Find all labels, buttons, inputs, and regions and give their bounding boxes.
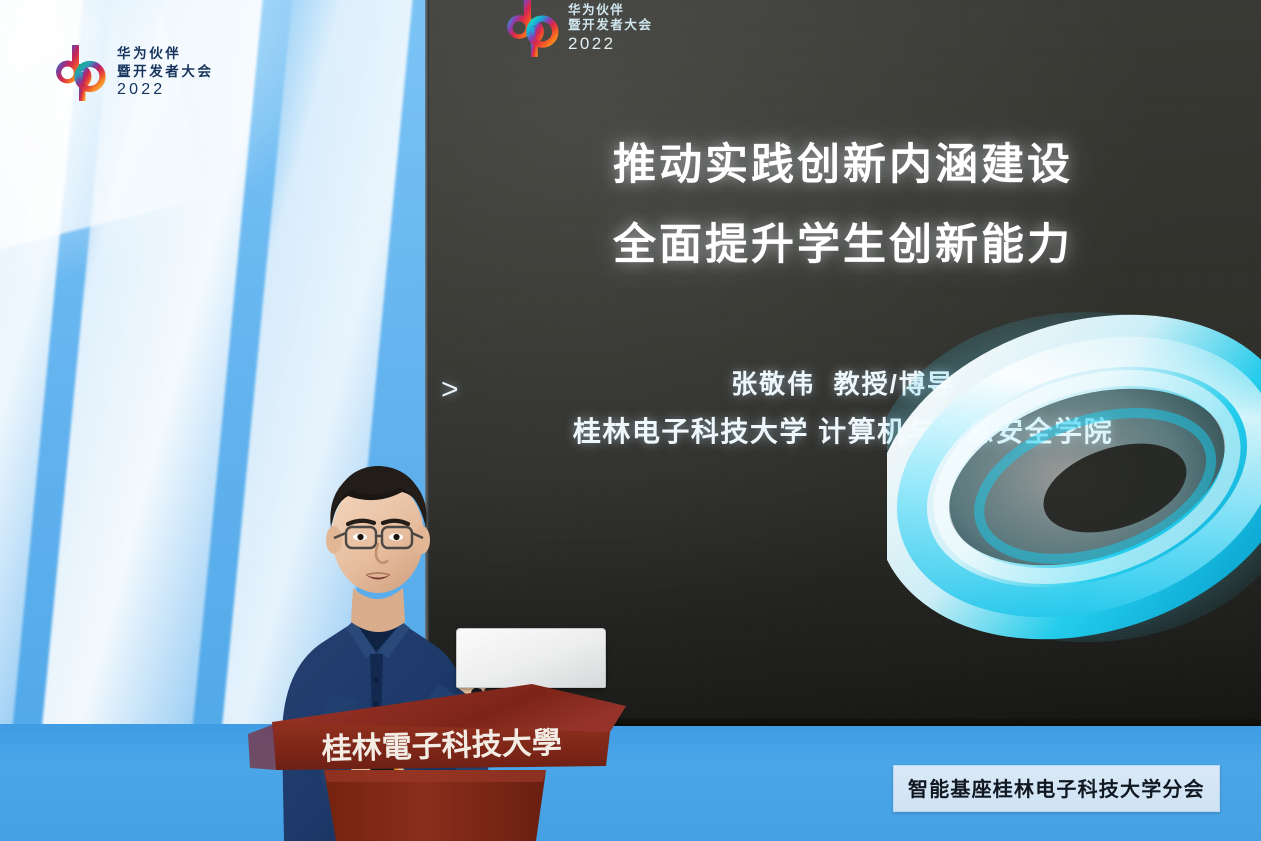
podium: 桂林電子科技大學 bbox=[246, 676, 666, 841]
slide-logo-year: 2022 bbox=[568, 35, 653, 53]
wall-logo-line1: 华为伙伴 bbox=[117, 47, 214, 62]
session-banner: 智能基座桂林电子科技大学分会 bbox=[893, 765, 1220, 812]
slide-conference-logo: 华为伙伴 暨开发者大会 2022 bbox=[503, 0, 653, 60]
wall-logo-text: 华为伙伴 暨开发者大会 2022 bbox=[117, 47, 214, 99]
wall-conference-logo: 华为伙伴 暨开发者大会 2022 bbox=[52, 42, 214, 104]
wall-logo-line2: 暨开发者大会 bbox=[117, 65, 214, 80]
slide-logo-text: 华为伙伴 暨开发者大会 2022 bbox=[568, 4, 653, 53]
wall-logo-year: 2022 bbox=[117, 82, 214, 99]
slide-title-line2: 全面提升学生创新能力 bbox=[425, 224, 1261, 267]
slide-title: 推动实践创新内涵建设 全面提升学生创新能力 bbox=[425, 144, 1261, 267]
hdc-dp-monogram-icon bbox=[503, 0, 559, 60]
podium-inscription: 桂林電子科技大學 bbox=[321, 727, 562, 767]
hdc-dp-monogram-icon bbox=[52, 42, 106, 104]
slide-logo-line2: 暨开发者大会 bbox=[568, 19, 653, 33]
slide-speaker-name: 张敬伟 bbox=[731, 369, 815, 399]
conference-photo-stage: 华为伙伴 暨开发者大会 2022 bbox=[0, 0, 1261, 841]
cyan-ribbon-swirl-icon bbox=[887, 292, 1261, 652]
slide-logo-line1: 华为伙伴 bbox=[568, 4, 653, 18]
slide-title-line1: 推动实践创新内涵建设 bbox=[613, 141, 1073, 189]
